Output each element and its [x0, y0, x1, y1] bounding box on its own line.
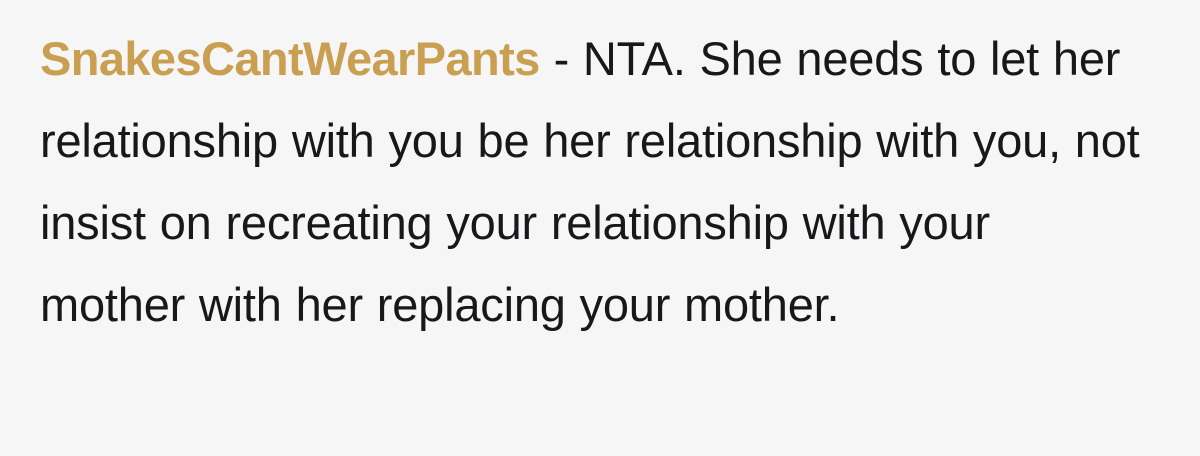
- username-body-separator: -: [540, 32, 583, 85]
- comment-username[interactable]: SnakesCantWearPants: [40, 32, 540, 85]
- comment-text: SnakesCantWearPants - NTA. She needs to …: [40, 18, 1142, 346]
- comment-card: SnakesCantWearPants - NTA. She needs to …: [0, 0, 1200, 456]
